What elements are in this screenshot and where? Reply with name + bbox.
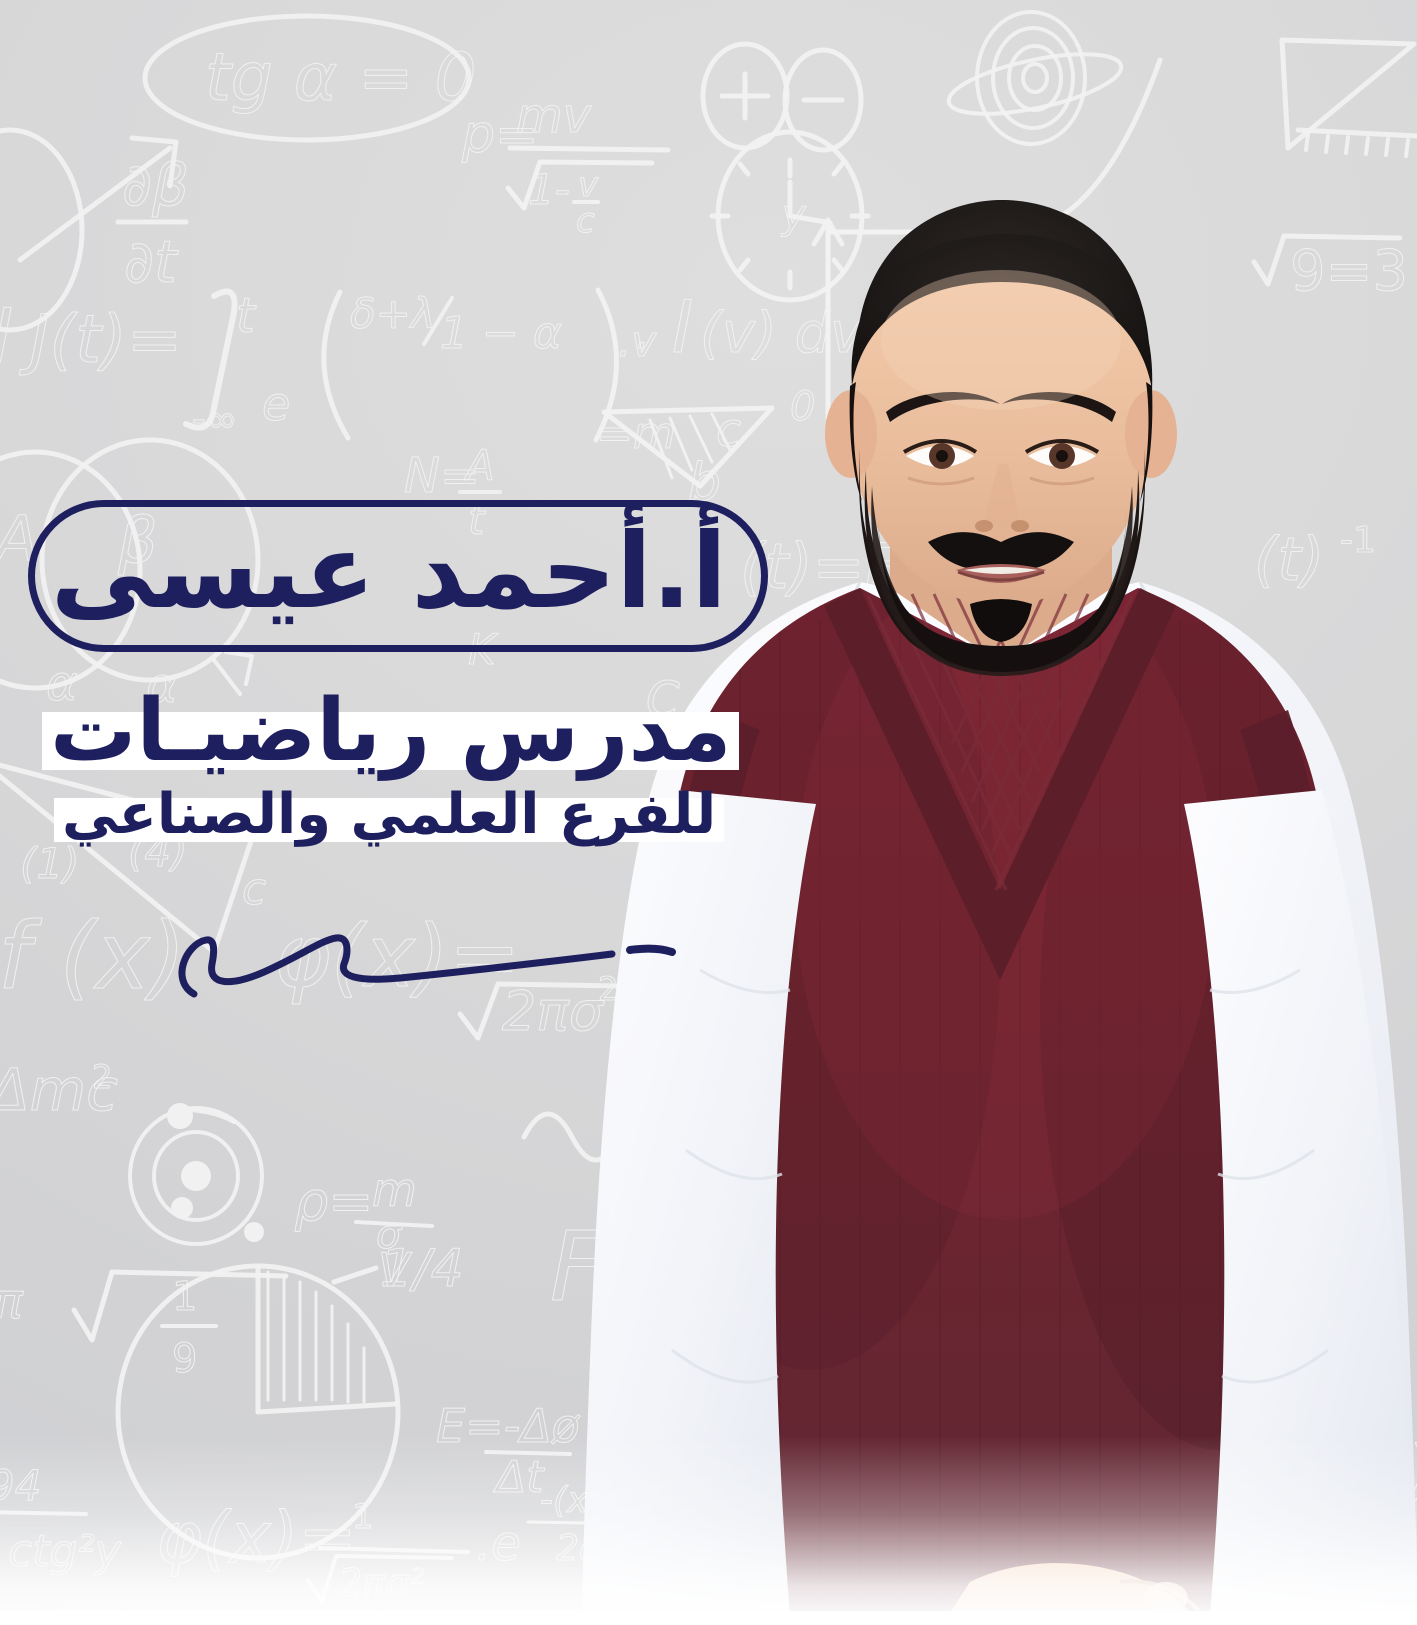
chalk-one-quarter: 1/4	[380, 1239, 464, 1299]
svg-text:Δt: Δt	[493, 1452, 545, 1503]
role-block: مدرس رياضيـات للفرع العلمي والصناعي	[0, 686, 760, 845]
svg-text:-∞: -∞	[192, 397, 237, 441]
title-block: أ.أحمد عيسى مدرس رياضيـات للفرع العلمي و…	[0, 500, 800, 845]
svg-text:1 − α: 1 − α	[440, 308, 562, 359]
svg-text:9: 9	[172, 1336, 197, 1382]
teacher-name: أ.أحمد عيسى	[51, 519, 727, 623]
chalk-f-of-x: f (x)	[0, 903, 186, 1010]
name-badge: أ.أحمد عيسى	[28, 500, 768, 652]
signature-flourish	[160, 920, 680, 1000]
svg-text:t: t	[236, 288, 257, 344]
svg-text:δ+λ: δ+λ	[350, 289, 436, 338]
svg-text:m: m	[372, 1163, 417, 1217]
chalk-dt: ∂t	[124, 228, 179, 296]
poster-canvas: tg α = 0 ∂β ∂t p= mv 1- v c	[0, 0, 1417, 1625]
svg-text:π: π	[0, 1274, 24, 1330]
svg-text:J(t)=: J(t)=	[19, 301, 182, 378]
svg-text:ctg²y: ctg²y	[8, 1526, 122, 1577]
chalk-dbeta: ∂β	[122, 151, 189, 219]
svg-text:2πσ²: 2πσ²	[338, 1561, 424, 1605]
chalk-faraday: E=-Δø	[436, 1399, 581, 1453]
role-primary: مدرس رياضيـات	[40, 686, 741, 776]
bottom-white-strip	[0, 1611, 1417, 1625]
svg-text:94: 94	[0, 1461, 41, 1510]
svg-text:.e: .e	[476, 1516, 521, 1572]
svg-text:2: 2	[92, 1058, 112, 1096]
svg-text:A: A	[463, 441, 495, 490]
svg-text:mv: mv	[516, 88, 592, 144]
svg-text:c: c	[242, 864, 266, 915]
role-secondary: للفرع العلمي والصناعي	[52, 786, 726, 845]
svg-text:J: J	[0, 293, 13, 377]
svg-text:1: 1	[352, 1497, 374, 1537]
chalk-tg-alpha: tg α = 0	[205, 39, 477, 116]
svg-text:e: e	[262, 377, 290, 431]
teacher-portrait	[560, 190, 1417, 1625]
chalk-gaussian: φ(x)=	[156, 1497, 357, 1579]
